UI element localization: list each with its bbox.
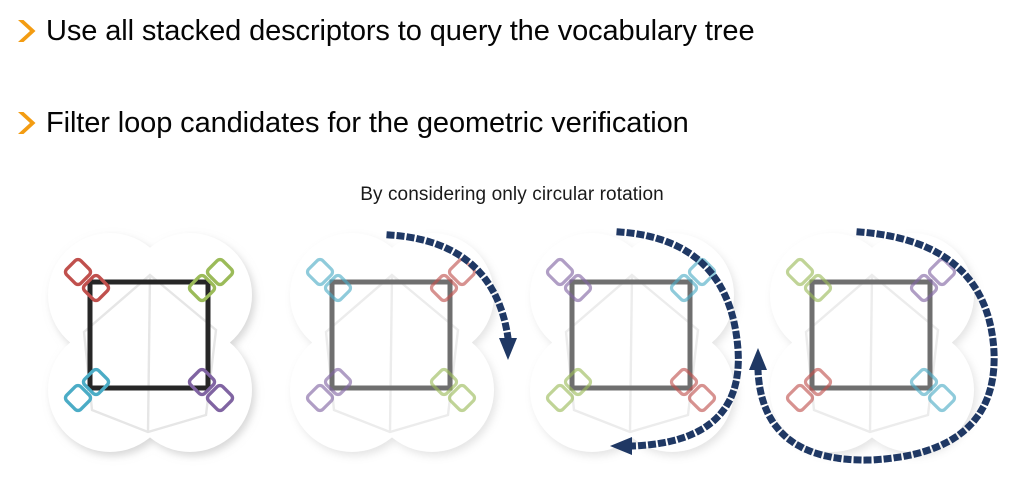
chevron-right-icon — [14, 16, 36, 46]
bullet-text-0: Use all stacked descriptors to query the… — [46, 14, 754, 48]
cloud-figure-4 — [742, 220, 1024, 485]
bullet-text-1: Filter loop candidates for the geometric… — [46, 106, 689, 140]
chevron-right-icon — [14, 108, 36, 138]
bullet-item-0: Use all stacked descriptors to query the… — [14, 14, 754, 48]
bullet-item-1: Filter loop candidates for the geometric… — [14, 106, 689, 140]
cloud-figure-4-svg — [742, 220, 1024, 485]
figure-strip — [0, 220, 1024, 485]
figure-caption: By considering only circular rotation — [0, 184, 1024, 206]
